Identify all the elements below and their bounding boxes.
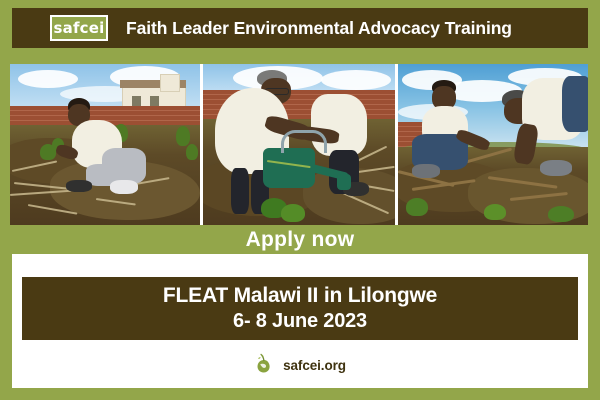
house-tower — [160, 74, 180, 92]
event-title: FLEAT Malawi II in Lilongwe — [163, 284, 437, 308]
header-bar: safcei Faith Leader Environmental Advoca… — [12, 8, 588, 48]
apply-now-band: Apply now — [0, 225, 600, 254]
footer: safcei.org — [12, 350, 588, 380]
jeans — [562, 76, 588, 132]
cloud-icon — [18, 70, 78, 88]
shoe — [540, 160, 572, 176]
footer-website-url[interactable]: safcei.org — [283, 358, 346, 373]
safcei-logo-text: safcei — [54, 21, 105, 36]
plant — [548, 206, 574, 222]
plant — [176, 126, 190, 146]
safcei-logo[interactable]: safcei — [50, 15, 108, 41]
shoe — [66, 180, 92, 192]
plant — [281, 204, 305, 222]
shoe — [110, 180, 138, 194]
shoe — [412, 164, 440, 178]
plant — [406, 198, 428, 216]
event-details-box: FLEAT Malawi II in Lilongwe 6- 8 June 20… — [22, 277, 578, 340]
safcei-leaf-globe-icon — [254, 353, 276, 377]
event-dates: 6- 8 June 2023 — [233, 310, 367, 333]
apply-now-label[interactable]: Apply now — [246, 228, 355, 252]
plant — [484, 204, 506, 220]
leg — [231, 168, 249, 214]
photo-watering-can — [203, 64, 395, 225]
watering-can-handle — [281, 130, 327, 153]
cloud-icon — [321, 70, 391, 90]
plant — [186, 144, 198, 160]
poster: safcei Faith Leader Environmental Advoca… — [0, 0, 600, 400]
watering-can-rose — [337, 174, 351, 190]
photo-planting-seedling — [10, 64, 200, 225]
page-title: Faith Leader Environmental Advocacy Trai… — [126, 18, 512, 39]
event-card: FLEAT Malawi II in Lilongwe 6- 8 June 20… — [12, 254, 588, 388]
photo-tilling-soil — [398, 64, 588, 225]
photo-gallery — [10, 64, 588, 225]
